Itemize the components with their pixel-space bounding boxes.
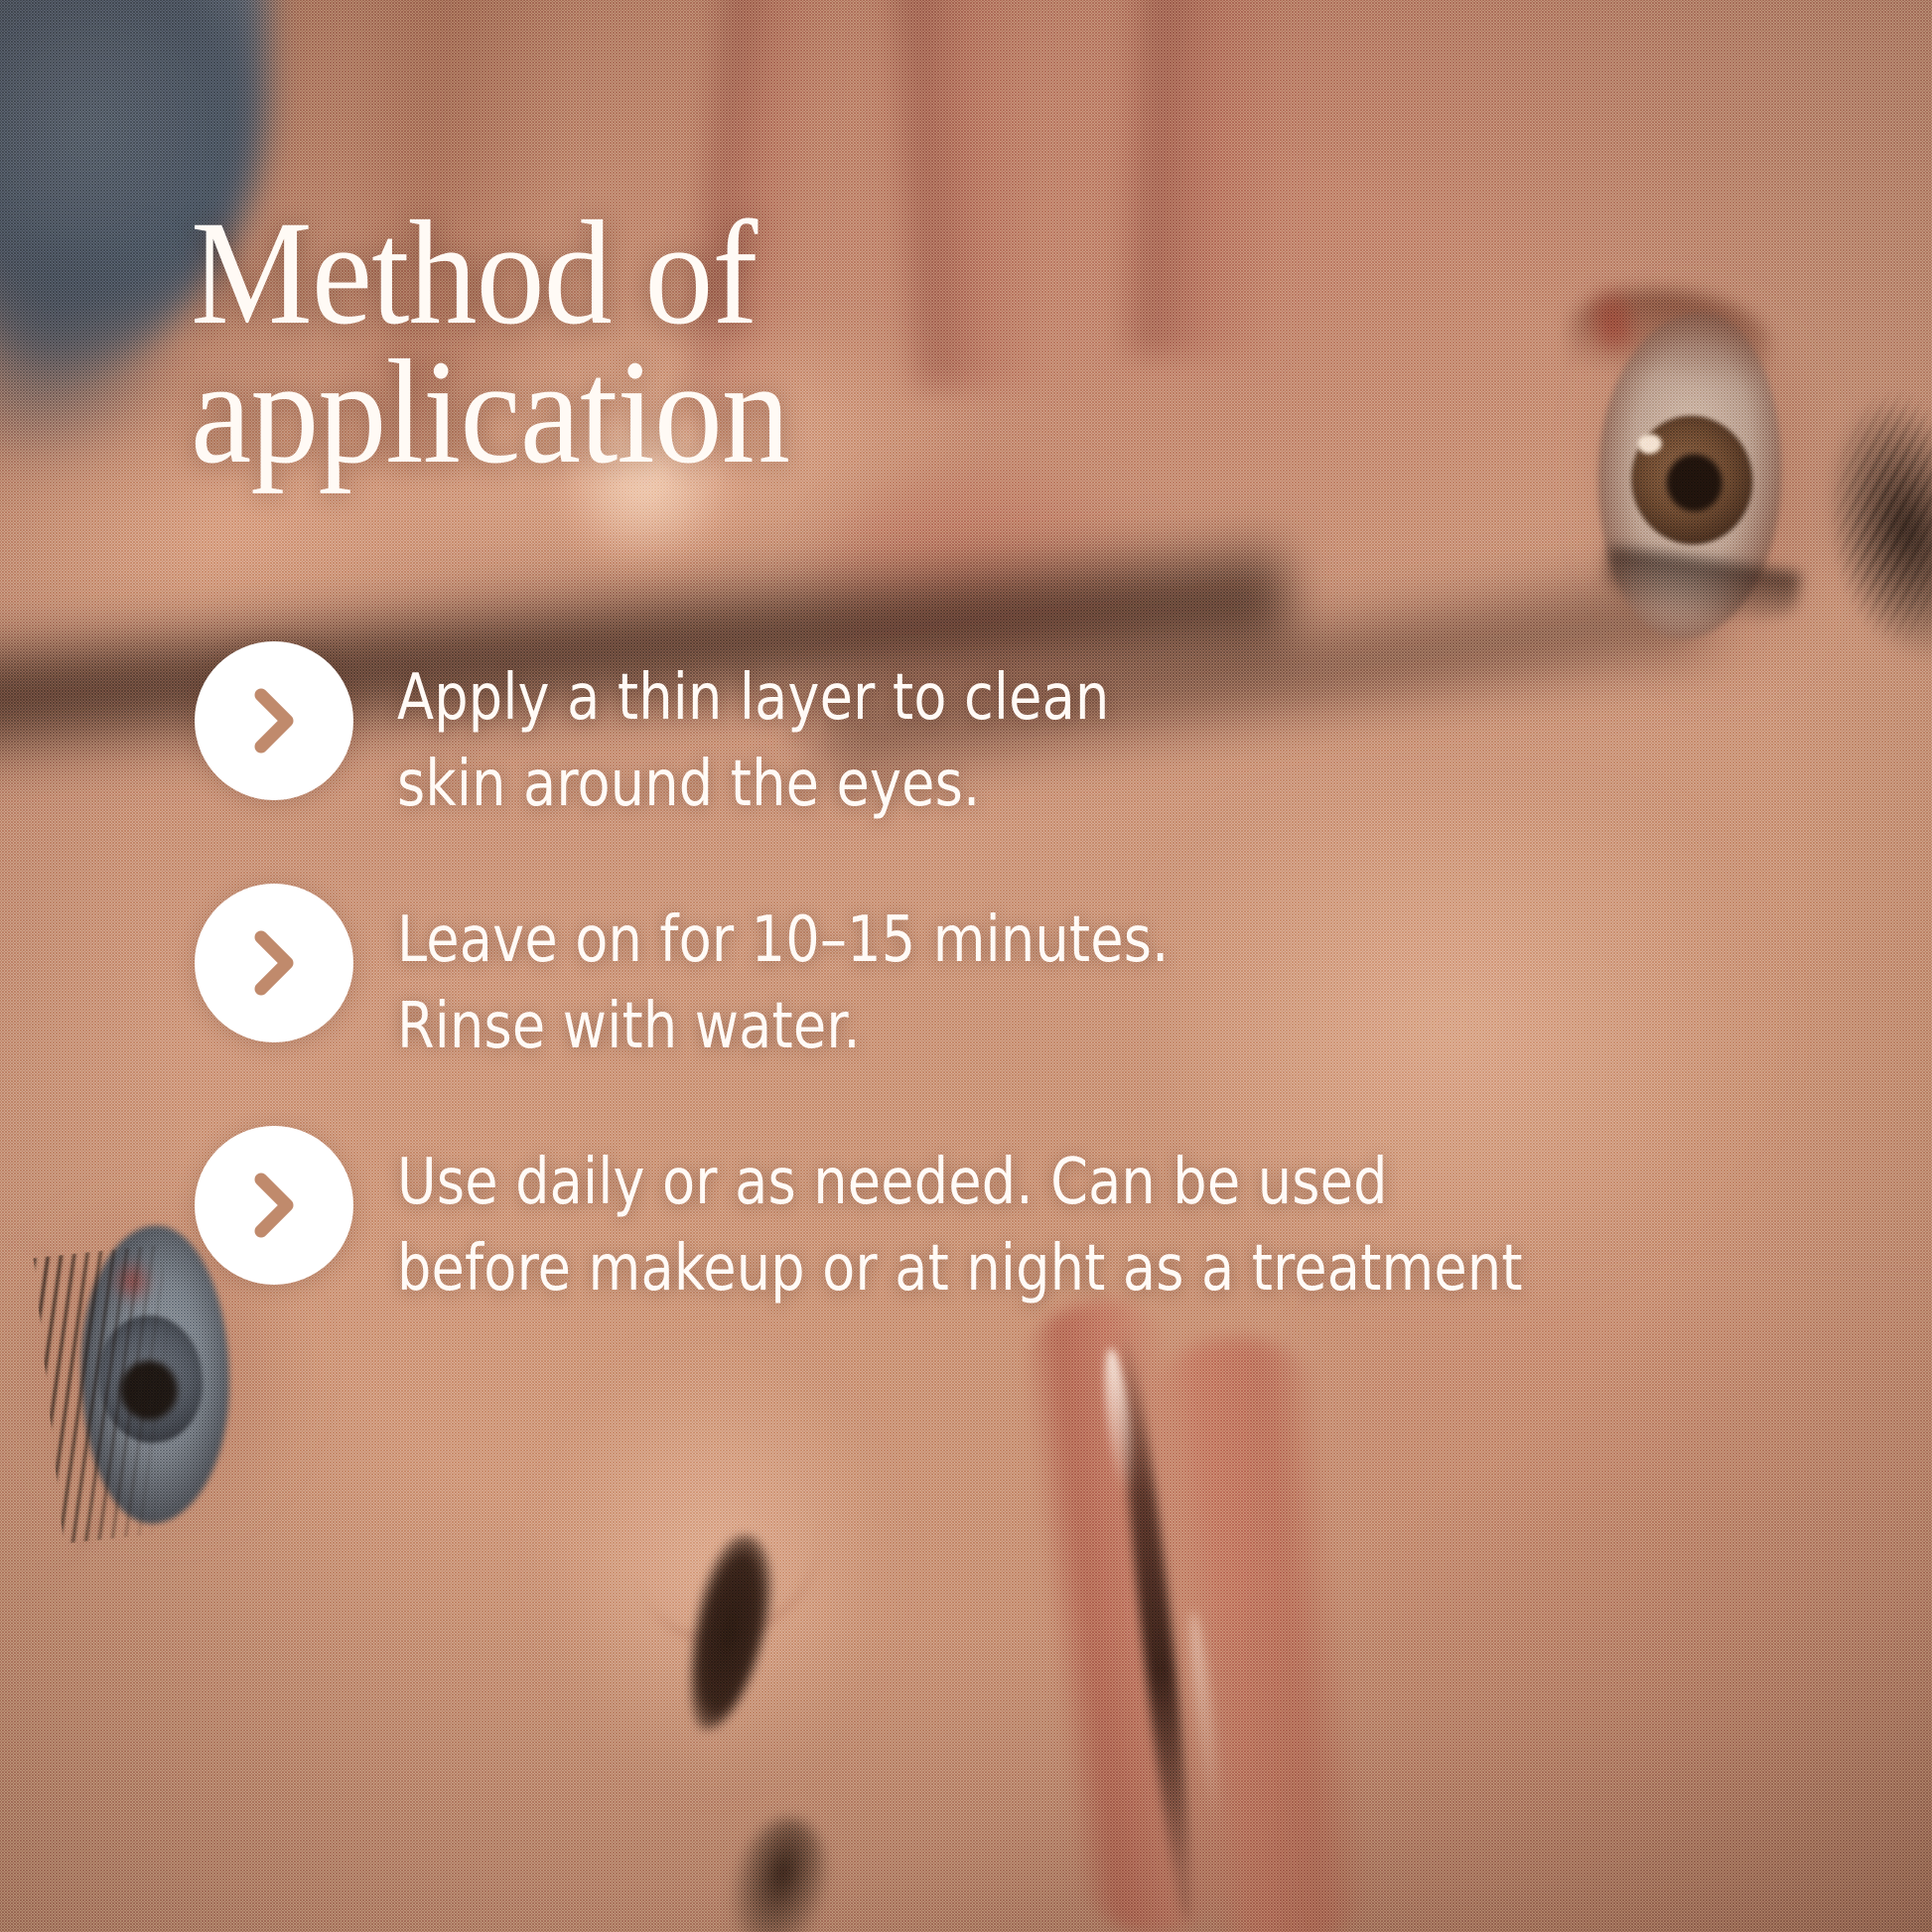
list-item-text: Use daily or as needed. Can be used befo… — [397, 1126, 1756, 1312]
page-title: Method ofapplication — [191, 205, 1195, 482]
page-title-line-2: application — [191, 344, 1195, 483]
chevron-right-icon — [195, 1126, 353, 1285]
chevron-right-icon — [195, 884, 353, 1042]
steps-list: Apply a thin layer to clean skin around … — [195, 641, 1843, 1312]
list-item: Leave on for 10–15 minutes. Rinse with w… — [195, 884, 1843, 1070]
slide-canvas: Method ofapplication Apply a thin layer … — [0, 0, 1932, 1932]
list-item-text: Leave on for 10–15 minutes. Rinse with w… — [397, 884, 1170, 1070]
list-item: Apply a thin layer to clean skin around … — [195, 641, 1843, 828]
slide-content: Method ofapplication Apply a thin layer … — [0, 0, 1932, 1932]
list-item-text: Apply a thin layer to clean skin around … — [397, 641, 1110, 828]
chevron-right-icon — [195, 641, 353, 800]
list-item: Use daily or as needed. Can be used befo… — [195, 1126, 1843, 1312]
